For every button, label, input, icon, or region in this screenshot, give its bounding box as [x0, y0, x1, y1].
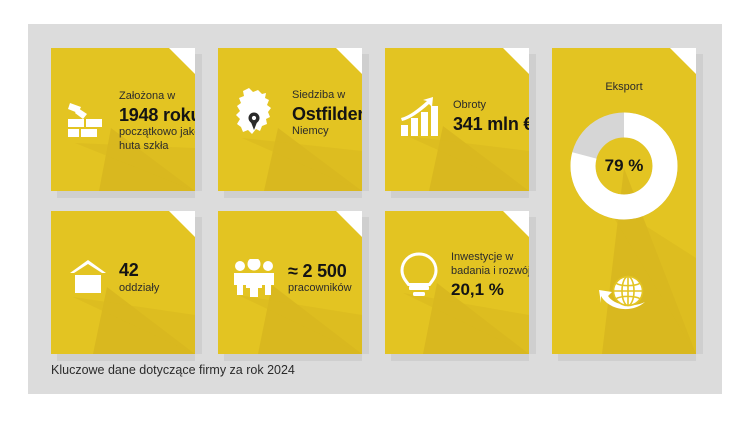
- page-fold-icon: [503, 48, 529, 74]
- bricks-icon: [67, 100, 107, 144]
- bar-chart-growth-icon: [399, 96, 441, 138]
- branches-value: 42: [119, 259, 159, 282]
- lightbulb-icon: [399, 251, 439, 299]
- house-icon: [69, 259, 107, 295]
- people-group-icon: [232, 259, 276, 297]
- export-percentage: 79 %: [605, 156, 644, 176]
- page-fold-icon: [336, 48, 362, 74]
- card-rnd: Inwestycje w badania i rozwój 20,1 %: [385, 211, 529, 354]
- rnd-line1: Inwestycje w: [451, 251, 529, 265]
- hq-line3: Niemcy: [292, 125, 362, 139]
- card-shadow: [696, 54, 703, 354]
- card-export: Eksport 79 %: [552, 48, 696, 354]
- rnd-line2: badania i rozwój: [451, 265, 529, 279]
- employees-label: pracowników: [288, 282, 352, 296]
- revenue-line1: Obroty: [453, 99, 529, 113]
- card-shadow: [558, 354, 696, 361]
- founded-line1: Założona w: [119, 90, 195, 104]
- card-founded: Założona w 1948 roku początkowo jako hut…: [51, 48, 195, 191]
- branches-label: oddziały: [119, 282, 159, 296]
- card-shadow: [529, 217, 536, 354]
- card-shadow: [529, 54, 536, 191]
- infographic-root: Założona w 1948 roku początkowo jako hut…: [0, 0, 752, 422]
- revenue-value: 341 mln €: [453, 113, 529, 136]
- card-branches: 42 oddziały: [51, 211, 195, 354]
- card-shadow: [57, 191, 195, 198]
- export-donut-chart: 79 %: [570, 112, 678, 220]
- card-shadow: [224, 191, 362, 198]
- card-shadow: [362, 217, 369, 354]
- founded-value: 1948 roku: [119, 104, 195, 127]
- page-fold-icon: [169, 211, 195, 237]
- founded-line4: huta szkła: [119, 140, 195, 154]
- page-fold-icon: [503, 211, 529, 237]
- globe-arrow-icon: [599, 272, 649, 318]
- card-shadow: [195, 217, 202, 354]
- founded-line3: początkowo jako: [119, 126, 195, 140]
- hq-line1: Siedziba w: [292, 89, 362, 103]
- page-fold-icon: [670, 48, 696, 74]
- export-label: Eksport: [552, 81, 696, 93]
- card-employees: ≈ 2 500 pracowników: [218, 211, 362, 354]
- page-fold-icon: [336, 211, 362, 237]
- card-shadow: [391, 354, 529, 361]
- card-revenue: Obroty 341 mln €: [385, 48, 529, 191]
- card-shadow: [57, 354, 195, 361]
- card-shadow: [391, 191, 529, 198]
- card-headquarters: Siedziba w Ostfildern Niemcy: [218, 48, 362, 191]
- page-fold-icon: [169, 48, 195, 74]
- card-shadow: [362, 54, 369, 191]
- hq-value: Ostfildern: [292, 103, 362, 126]
- germany-map-pin-icon: [232, 86, 280, 142]
- card-shadow: [195, 54, 202, 191]
- infographic-caption: Kluczowe dane dotyczące firmy za rok 202…: [51, 363, 295, 377]
- employees-value: ≈ 2 500: [288, 260, 352, 283]
- card-shadow: [224, 354, 362, 361]
- rnd-value: 20,1 %: [451, 279, 529, 300]
